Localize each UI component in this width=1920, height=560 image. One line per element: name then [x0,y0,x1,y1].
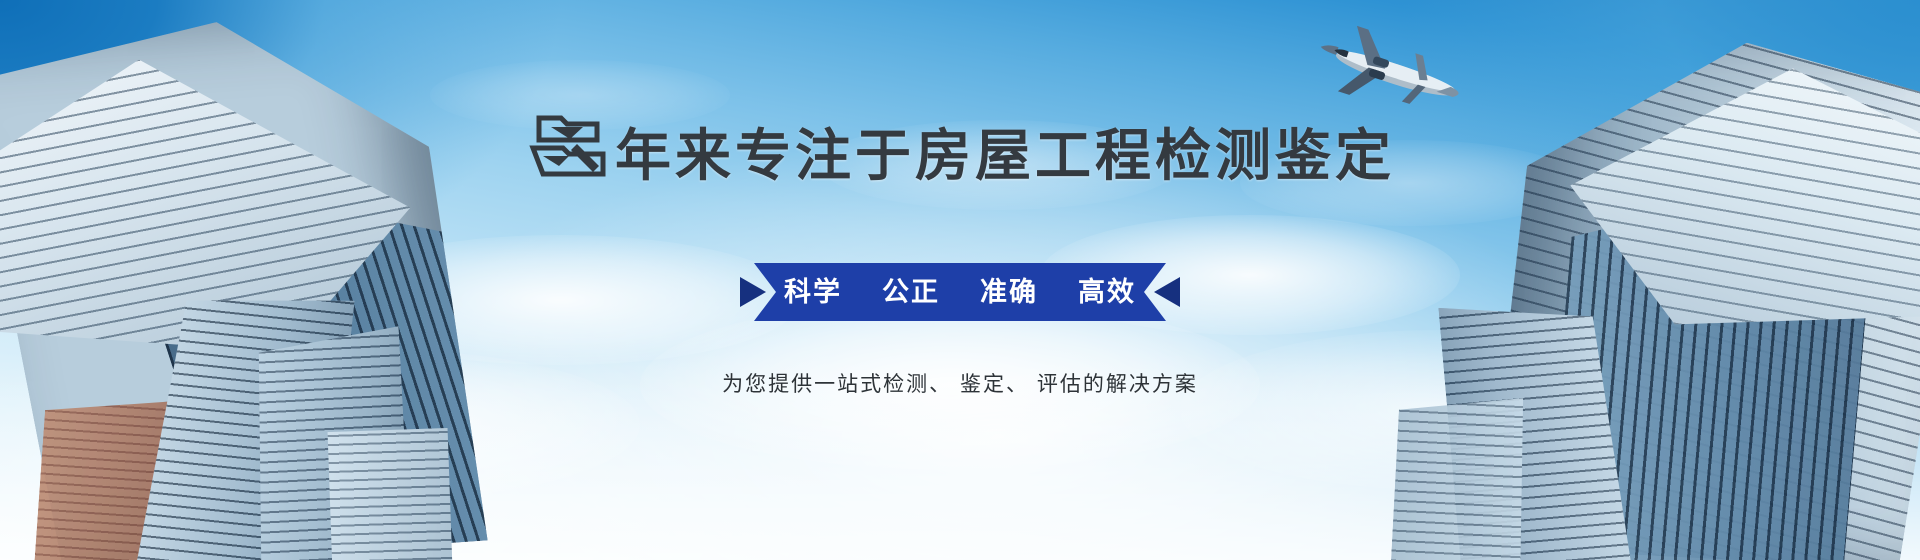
headline: 年来专注于房屋工程检测鉴定 [525,108,1395,184]
banner-content: 年来专注于房屋工程检测鉴定 科学 公正 准确 高效 为您提供一站式检测、 鉴定、… [0,0,1920,560]
slogan-list: 科学 公正 准确 高效 [740,263,1180,321]
duo-character-mark-icon [525,108,611,182]
headline-text: 年来专注于房屋工程检测鉴定 [615,128,1395,184]
slogan-item-2: 公正 [882,279,940,306]
slogan-item-3: 准确 [980,279,1038,306]
slogan-ribbon: 科学 公正 准确 高效 [740,263,1180,321]
subtitle-text: 为您提供一站式检测、 鉴定、 评估的解决方案 [722,368,1198,398]
slogan-item-1: 科学 [784,279,842,306]
hero-banner: 年来专注于房屋工程检测鉴定 科学 公正 准确 高效 为您提供一站式检测、 鉴定、… [0,0,1920,560]
slogan-item-4: 高效 [1078,279,1136,306]
